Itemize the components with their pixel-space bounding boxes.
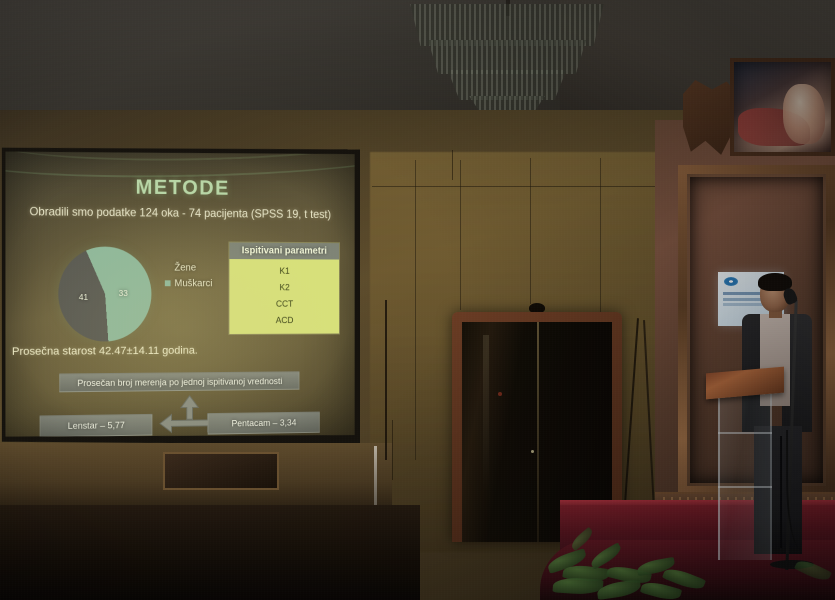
legend-label: Muškarci (174, 276, 212, 291)
wall-crack (392, 420, 393, 480)
legend-swatch-icon (165, 281, 171, 287)
pie-graphic (58, 246, 151, 341)
wall-seam (460, 160, 461, 310)
table-body: K1 K2 CCT ACD (229, 259, 339, 334)
door-handle[interactable] (531, 450, 534, 453)
wall-seam (372, 186, 668, 187)
conference-photo: METODE Obradili smo podatke 124 oka - 74… (0, 0, 835, 600)
legend-item-zene: Žene (165, 261, 213, 276)
average-age-text: Prosečna starost 42.47±14.11 godina. (12, 345, 198, 358)
flow-box-pentacam: Pentacam – 3,34 (208, 412, 320, 435)
table-row: CCT (229, 295, 339, 312)
chandelier-icon (404, 4, 610, 112)
legend-label: Žene (174, 261, 196, 276)
eye-logo-icon (724, 277, 738, 286)
fresco-painting (730, 58, 835, 156)
legend-item-muskarci: Muškarci (165, 276, 213, 291)
dark-wall-picture (163, 452, 279, 490)
hanging-cable (385, 300, 387, 460)
table-header: Ispitivani parametri (229, 243, 339, 260)
projection-screen: METODE Obradili smo podatke 124 oka - 74… (0, 143, 360, 451)
slide-surface: METODE Obradili smo podatke 124 oka - 74… (4, 148, 355, 444)
pie-legend: Žene Muškarci (165, 261, 213, 291)
flow-box-top: Prosečan broj merenja po jednoj ispitiva… (59, 371, 299, 392)
slide-subtitle: Obradili smo podatke 124 oka - 74 pacije… (4, 205, 355, 221)
pie-slice-label-muskarci: 33 (119, 288, 128, 298)
pie-slice-label-zene: 41 (79, 292, 88, 302)
table-row: ACD (229, 312, 339, 329)
parameters-table: Ispitivani parametri K1 K2 CCT ACD (228, 242, 340, 335)
slide-title: METODE (4, 174, 355, 202)
stage-plants (545, 520, 835, 600)
table-row: K1 (229, 262, 339, 279)
door-split-line (537, 322, 539, 542)
table-row: K2 (229, 279, 339, 296)
wall-seam (415, 160, 416, 460)
flow-box-lenstar: Lenstar – 5,77 (40, 414, 153, 437)
wall-crack (452, 150, 453, 180)
hall-floor (0, 505, 420, 600)
gender-pie-chart: 41 33 (58, 246, 151, 341)
wall-seam (530, 158, 531, 304)
lectern-wood-top (706, 367, 784, 400)
